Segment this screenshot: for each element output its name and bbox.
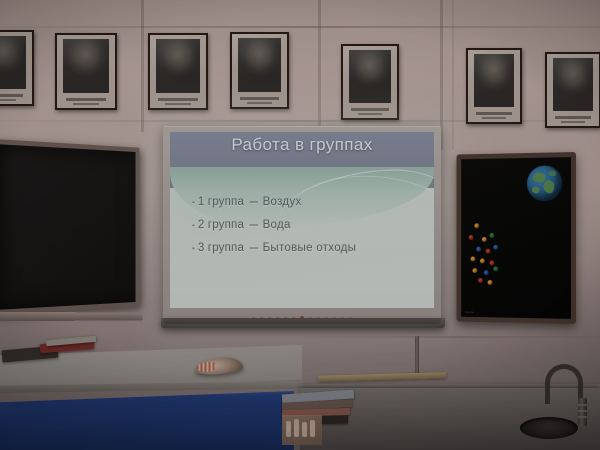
magnet-15[interactable] — [488, 280, 493, 285]
portrait-frame-7 — [545, 52, 600, 128]
portrait-caption — [555, 116, 591, 119]
classroom-photo: Работа в группах •1 группа---Воздух•2 гр… — [0, 0, 600, 450]
bullet-dash: --- — [249, 196, 258, 208]
portrait-caption-sub — [165, 103, 191, 105]
portrait-caption — [66, 98, 107, 101]
bullet-group-label: 1 группа — [198, 196, 244, 208]
portrait-frame-4 — [230, 32, 289, 109]
portrait-caption — [158, 98, 197, 101]
portrait-frame-6 — [466, 48, 522, 124]
magnet-2[interactable] — [469, 235, 474, 240]
desk-front-panel — [0, 391, 294, 450]
magnet-14[interactable] — [478, 278, 483, 283]
portrait-face — [349, 50, 391, 103]
portrait-caption-sub — [561, 121, 585, 123]
bullet-dot-icon: • — [192, 245, 195, 253]
portrait-mat — [0, 32, 32, 104]
magnet-9[interactable] — [480, 259, 485, 264]
portrait-frame-5 — [341, 44, 399, 120]
faucet-icon[interactable] — [545, 364, 585, 426]
poster-sheet — [282, 415, 322, 445]
magnet-1[interactable] — [474, 223, 479, 228]
bullet-topic-value: Бытовые отходы — [263, 242, 357, 254]
portrait-caption-sub — [73, 103, 100, 105]
magnet-4[interactable] — [490, 233, 495, 238]
chalkboard-ledge — [0, 312, 143, 321]
slide-title: Работа в группах — [170, 135, 434, 155]
bullet-topic-value: Воздух — [263, 196, 302, 208]
slide-bullet-2: •2 группа---Вода — [192, 219, 426, 231]
portrait-face — [238, 38, 281, 92]
magnetic-board[interactable]: Globe — [457, 152, 576, 324]
portrait-frame-1 — [0, 30, 34, 106]
portrait-mat — [150, 35, 206, 108]
portrait-mat — [232, 34, 287, 107]
portrait-caption-sub — [0, 99, 16, 101]
magnet-11[interactable] — [472, 268, 477, 273]
magnet-13[interactable] — [493, 266, 498, 271]
slide-bullet-list: •1 группа---Воздух•2 группа---Вода•3 гру… — [192, 196, 426, 265]
portrait-face — [553, 58, 594, 111]
portrait-mat — [343, 46, 397, 118]
portrait-caption-sub — [247, 102, 272, 104]
portrait-face — [156, 39, 200, 93]
slide-bullet-3: •3 группа---Бытовые отходы — [192, 242, 426, 254]
portrait-mat — [57, 35, 115, 108]
portrait-frame-3 — [148, 33, 208, 110]
portrait-caption — [351, 108, 389, 111]
magnet-3[interactable] — [482, 237, 487, 242]
bullet-dash: --- — [249, 242, 258, 254]
whiteboard-pen-tray[interactable] — [161, 318, 445, 328]
portrait-mat — [547, 54, 599, 126]
portrait-face — [63, 39, 108, 93]
magnetic-board-surface: Globe — [461, 157, 571, 319]
portrait-caption-sub — [482, 117, 506, 119]
teacher-desk — [0, 345, 302, 450]
bullet-dot-icon: • — [192, 222, 195, 230]
wall-pipe — [415, 336, 419, 378]
magnet-5[interactable] — [476, 247, 481, 252]
bullet-dot-icon: • — [192, 199, 195, 207]
bullet-dash: --- — [249, 219, 258, 231]
portrait-caption — [0, 94, 23, 97]
chalkboard-surface — [0, 144, 136, 309]
magnetic-board-label: Globe — [465, 310, 474, 314]
portrait-face — [0, 36, 26, 89]
magnet-10[interactable] — [490, 261, 495, 266]
earth-globe-icon — [527, 165, 562, 201]
portrait-caption-sub — [358, 113, 383, 115]
magnet-12[interactable] — [484, 270, 489, 275]
portrait-caption — [476, 112, 512, 115]
portrait-face — [474, 54, 515, 107]
bullet-group-label: 2 группа — [198, 219, 244, 231]
portrait-frame-2 — [55, 33, 117, 110]
magnet-8[interactable] — [471, 257, 476, 262]
slide-bullet-1: •1 группа---Воздух — [192, 196, 426, 208]
magnet-7[interactable] — [493, 245, 498, 250]
interactive-whiteboard[interactable]: Работа в группах •1 группа---Воздух•2 гр… — [163, 126, 441, 324]
magnet-cluster — [461, 157, 571, 159]
portrait-caption — [240, 97, 279, 100]
bullet-topic-value: Вода — [263, 219, 291, 231]
bullet-group-label: 3 группа — [198, 242, 244, 254]
portrait-mat — [468, 50, 520, 122]
chalkboard[interactable] — [0, 139, 139, 315]
magnet-6[interactable] — [486, 249, 491, 254]
presentation-slide: Работа в группах •1 группа---Воздух•2 гр… — [170, 132, 434, 308]
